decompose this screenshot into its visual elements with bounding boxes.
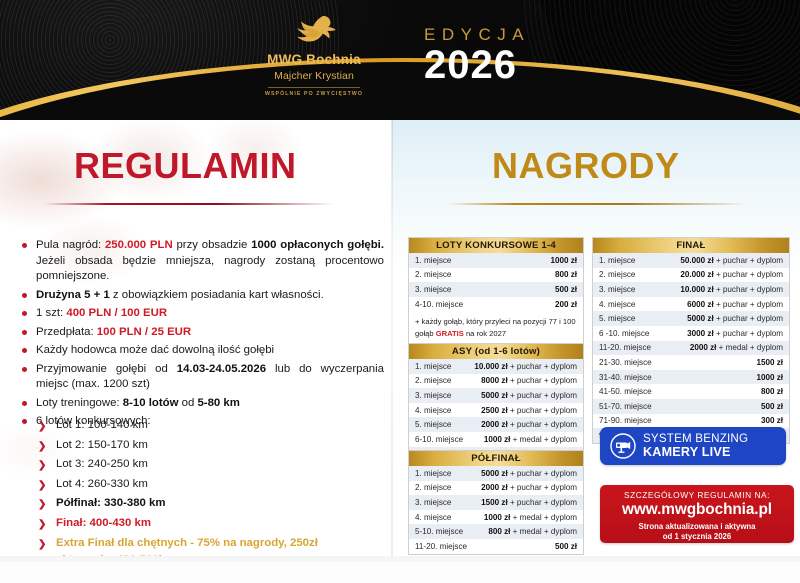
table-row: 31-40. miejsce1000 zł xyxy=(593,370,789,385)
row-prize: 800 zł xyxy=(451,270,577,279)
content-area: REGULAMIN NAGRODY Pula nagród: 250.000 P… xyxy=(0,120,800,562)
row-position: 71-90. miejsce xyxy=(599,416,652,425)
edition-label: EDYCJA xyxy=(424,25,530,45)
scan-bottom-margin xyxy=(0,556,800,562)
website-note-line1: Strona aktualizowana i aktywna xyxy=(639,522,756,531)
row-position: 4-10. miejsce xyxy=(415,300,463,309)
row-position: 51-70. miejsce xyxy=(599,402,652,411)
flight-list: ❯Lot 1: 100-140 km❯Lot 2: 150-170 km❯Lot… xyxy=(36,417,366,562)
row-prize: 500 zł xyxy=(451,285,577,294)
table-row: 6 -10. miejsce3000 zł + puchar + dyplom xyxy=(593,326,789,341)
row-position: 5. miejsce xyxy=(599,314,635,323)
flight-label: Lot 4: 260-330 km xyxy=(56,478,148,490)
row-prize: 20.000 zł + puchar + dyplom xyxy=(635,270,783,279)
chevron-right-icon: ❯ xyxy=(38,419,46,434)
table-row: 3. miejsce10.000 zł + puchar + dyplom xyxy=(593,282,789,297)
table-row: 71-90. miejsce300 zł xyxy=(593,414,789,429)
row-position: 4. miejsce xyxy=(415,513,451,522)
row-position: 2. miejsce xyxy=(415,376,451,385)
table-row: 3. miejsce500 zł xyxy=(409,282,583,297)
table-final: FINAŁ1. miejsce50.000 zł + puchar + dypl… xyxy=(592,237,790,444)
row-prize: 500 zł xyxy=(467,542,577,551)
chevron-right-icon: ❯ xyxy=(38,478,46,493)
rule-item: 1 szt: 400 PLN / 100 EUR xyxy=(14,306,384,322)
row-prize: 2000 zł + puchar + dyplom xyxy=(451,483,577,492)
website-note-line2: od 1 stycznia 2026 xyxy=(663,532,731,541)
brochure-page: MWG Bochnia Majcher Krystian WSPÓLNIE PO… xyxy=(0,0,800,583)
row-prize: 1000 zł xyxy=(652,373,783,382)
row-prize: 2500 zł + puchar + dyplom xyxy=(451,406,577,415)
table-row: 2. miejsce20.000 zł + puchar + dyplom xyxy=(593,268,789,283)
left-panel-title: REGULAMIN xyxy=(74,145,297,187)
bullet-dot xyxy=(22,243,27,248)
rule-item: Loty treningowe: 8-10 lotów od 5-80 km xyxy=(14,396,384,412)
table-row: 4. miejsce6000 zł + puchar + dyplom xyxy=(593,297,789,312)
header-band: MWG Bochnia Majcher Krystian WSPÓLNIE PO… xyxy=(0,0,800,122)
chevron-right-icon: ❯ xyxy=(38,537,46,552)
table-header: PÓŁFINAŁ xyxy=(409,451,583,466)
row-position: 1. miejsce xyxy=(415,362,451,371)
row-position: 2. miejsce xyxy=(599,270,635,279)
table-note: + każdy gołąb, który przyleci na pozycji… xyxy=(409,311,583,345)
row-position: 6-10. miejsce xyxy=(415,435,463,444)
row-prize: 8000 zł + puchar + dyplom xyxy=(451,376,577,385)
chevron-right-icon: ❯ xyxy=(38,439,46,454)
chevron-right-icon: ❯ xyxy=(38,517,46,532)
row-prize: 2000 zł + medal + dyplom xyxy=(651,343,783,352)
table-row: 41-50. miejsce800 zł xyxy=(593,384,789,399)
center-fold-line xyxy=(391,120,393,562)
rule-item: Pula nagród: 250.000 PLN przy obsadzie 1… xyxy=(14,238,384,285)
row-position: 11-20. miejsce xyxy=(599,343,651,352)
row-position: 3. miejsce xyxy=(415,498,451,507)
row-position: 5. miejsce xyxy=(415,420,451,429)
table-row: 51-70. miejsce500 zł xyxy=(593,399,789,414)
bullet-dot xyxy=(22,330,27,335)
row-position: 2. miejsce xyxy=(415,483,451,492)
row-prize: 1000 zł + medal + dyplom xyxy=(451,513,577,522)
bullet-dot xyxy=(22,293,27,298)
edition-block: EDYCJA 2026 xyxy=(424,25,530,84)
bullet-dot xyxy=(22,348,27,353)
table-header: ASY (od 1-6 lotów) xyxy=(409,344,583,359)
table-row: 3. miejsce5000 zł + puchar + dyplom xyxy=(409,388,583,403)
benzing-line2: KAMERY LIVE xyxy=(643,445,748,460)
table-polfinal: PÓŁFINAŁ1. miejsce5000 zł + puchar + dyp… xyxy=(408,450,584,555)
chevron-right-icon: ❯ xyxy=(38,458,46,473)
table-row: 5. miejsce2000 zł + puchar + dyplom xyxy=(409,417,583,432)
row-position: 5-10. miejsce xyxy=(415,527,463,536)
flight-item: ❯Półfinał: 330-380 km xyxy=(36,495,366,512)
table-row: 1. miejsce10.000 zł + puchar + dyplom xyxy=(409,359,583,374)
table-row: 2. miejsce800 zł xyxy=(409,268,583,283)
scanned-sheet: MWG Bochnia Majcher Krystian WSPÓLNIE PO… xyxy=(0,0,800,562)
rule-item: Każdy hodowca może dać dowolną ilość goł… xyxy=(14,343,384,359)
flight-item: ❯Lot 4: 260-330 km xyxy=(36,476,366,493)
row-position: 31-40. miejsce xyxy=(599,373,652,382)
row-prize: 10.000 zł + puchar + dyplom xyxy=(451,362,577,371)
flight-item: ❯Lot 2: 150-170 km xyxy=(36,437,366,454)
row-position: 1. miejsce xyxy=(415,469,451,478)
table-row: 6-10. miejsce1000 zł + medal + dyplom xyxy=(409,432,583,447)
rule-item: Drużyna 5 + 1 z obowiązkiem posiadania k… xyxy=(14,288,384,304)
table-header: FINAŁ xyxy=(593,238,789,253)
table-row: 5-10. miejsce800 zł + medal + dyplom xyxy=(409,524,583,539)
row-position: 3. miejsce xyxy=(415,391,451,400)
table-row: 4. miejsce2500 zł + puchar + dyplom xyxy=(409,403,583,418)
cctv-camera-icon xyxy=(610,433,636,459)
row-position: 3. miejsce xyxy=(599,285,635,294)
table-row: 11-20. miejsce500 zł xyxy=(409,539,583,554)
flight-item: ❯Finał: 400-430 km xyxy=(36,515,366,532)
row-position: 6 -10. miejsce xyxy=(599,329,649,338)
row-prize: 1500 zł + puchar + dyplom xyxy=(451,498,577,507)
edition-year: 2026 xyxy=(424,46,530,84)
website-banner[interactable]: SZCZEGÓŁOWY REGULAMIN NA: www.mwgbochnia… xyxy=(600,485,794,543)
row-prize: 1000 zł xyxy=(451,256,577,265)
brand-logo: MWG Bochnia Majcher Krystian WSPÓLNIE PO… xyxy=(243,14,385,97)
table-loty-konkursowe: LOTY KONKURSOWE 1-41. miejsce1000 zł2. m… xyxy=(408,237,584,346)
benzing-line1: SYSTEM BENZING xyxy=(643,432,748,446)
row-prize: 3000 zł + puchar + dyplom xyxy=(649,329,783,338)
website-banner-label: SZCZEGÓŁOWY REGULAMIN NA: xyxy=(600,490,794,500)
row-prize: 10.000 zł + puchar + dyplom xyxy=(635,285,783,294)
bullet-dot xyxy=(22,401,27,406)
rule-item: Przyjmowanie gołębi od 14.03-24.05.2026 … xyxy=(14,362,384,393)
table-row: 4-10. miejsce200 zł xyxy=(409,297,583,312)
row-prize: 800 zł + medal + dyplom xyxy=(463,527,577,536)
dove-icon xyxy=(284,14,344,46)
row-prize: 1000 zł + medal + dyplom xyxy=(463,435,577,444)
row-position: 11-20. miejsce xyxy=(415,542,467,551)
flight-label: Półfinał: 330-380 km xyxy=(56,497,166,509)
table-row: 5. miejsce5000 zł + puchar + dyplom xyxy=(593,311,789,326)
table-row: 1. miejsce50.000 zł + puchar + dyplom xyxy=(593,253,789,268)
row-prize: 800 zł xyxy=(652,387,783,396)
flight-label: Lot 1: 100-140 km xyxy=(56,419,148,431)
table-row: 21-30. miejsce1500 zł xyxy=(593,355,789,370)
table-header: LOTY KONKURSOWE 1-4 xyxy=(409,238,583,253)
flight-item: ❯Lot 3: 240-250 km xyxy=(36,456,366,473)
website-banner-note: Strona aktualizowana i aktywna od 1 styc… xyxy=(600,522,794,541)
row-prize: 6000 zł + puchar + dyplom xyxy=(635,300,783,309)
benzing-banner[interactable]: SYSTEM BENZING KAMERY LIVE xyxy=(600,427,786,465)
logo-subtitle: Majcher Krystian xyxy=(243,70,385,82)
row-prize: 300 zł xyxy=(652,416,783,425)
table-row: 2. miejsce8000 zł + puchar + dyplom xyxy=(409,374,583,389)
row-prize: 1500 zł xyxy=(652,358,783,367)
logo-divider xyxy=(268,87,360,88)
gratis-highlight: GRATIS xyxy=(436,329,464,338)
flight-label: Lot 2: 150-170 km xyxy=(56,439,148,451)
website-url[interactable]: www.mwgbochnia.pl xyxy=(600,501,794,519)
right-panel-title: NAGRODY xyxy=(492,145,680,187)
right-title-underline xyxy=(448,203,748,205)
logo-tagline: WSPÓLNIE PO ZWYCIĘSTWO xyxy=(243,91,385,97)
row-prize: 5000 zł + puchar + dyplom xyxy=(635,314,783,323)
row-position: 4. miejsce xyxy=(415,406,451,415)
chevron-right-icon: ❯ xyxy=(38,497,46,512)
row-prize: 2000 zł + puchar + dyplom xyxy=(451,420,577,429)
row-position: 41-50. miejsce xyxy=(599,387,652,396)
row-prize: 200 zł xyxy=(463,300,577,309)
bullet-dot xyxy=(22,419,27,424)
table-row: 3. miejsce1500 zł + puchar + dyplom xyxy=(409,495,583,510)
flight-label: Lot 3: 240-250 km xyxy=(56,458,148,470)
flight-label: Finał: 400-430 km xyxy=(56,517,151,529)
left-title-underline xyxy=(44,203,334,205)
table-row: 4. miejsce1000 zł + medal + dyplom xyxy=(409,510,583,525)
bullet-dot xyxy=(22,367,27,372)
table-row: 1. miejsce1000 zł xyxy=(409,253,583,268)
table-asy: ASY (od 1-6 lotów)1. miejsce10.000 zł + … xyxy=(408,343,584,462)
row-prize: 5000 zł + puchar + dyplom xyxy=(451,391,577,400)
logo-name: MWG Bochnia xyxy=(243,53,385,68)
row-position: 2. miejsce xyxy=(415,270,451,279)
rule-item: Przedpłata: 100 PLN / 25 EUR xyxy=(14,325,384,341)
row-prize: 5000 zł + puchar + dyplom xyxy=(451,469,577,478)
row-position: 3. miejsce xyxy=(415,285,451,294)
row-position: 1. miejsce xyxy=(599,256,635,265)
row-position: 4. miejsce xyxy=(599,300,635,309)
flight-item: ❯Lot 1: 100-140 km xyxy=(36,417,366,434)
table-row: 11-20. miejsce2000 zł + medal + dyplom xyxy=(593,341,789,356)
bullet-dot xyxy=(22,311,27,316)
row-prize: 500 zł xyxy=(652,402,783,411)
row-position: 21-30. miejsce xyxy=(599,358,652,367)
row-prize: 50.000 zł + puchar + dyplom xyxy=(635,256,783,265)
rules-list: Pula nagród: 250.000 PLN przy obsadzie 1… xyxy=(14,238,384,433)
table-row: 1. miejsce5000 zł + puchar + dyplom xyxy=(409,466,583,481)
table-row: 2. miejsce2000 zł + puchar + dyplom xyxy=(409,481,583,496)
row-position: 1. miejsce xyxy=(415,256,451,265)
